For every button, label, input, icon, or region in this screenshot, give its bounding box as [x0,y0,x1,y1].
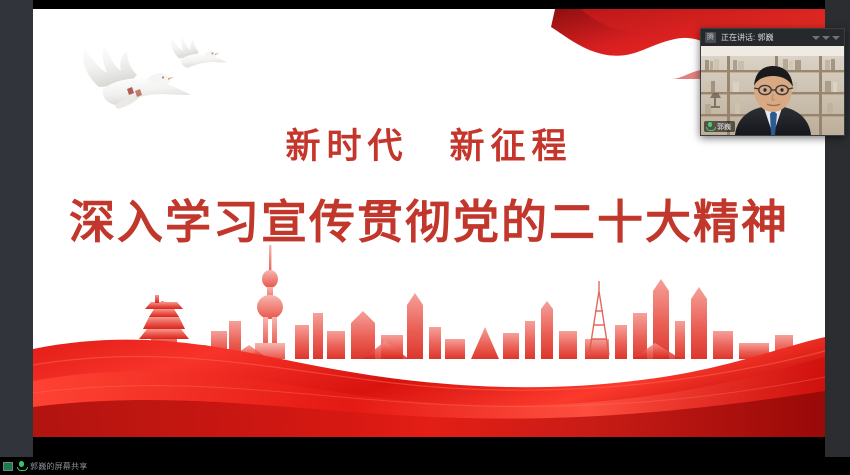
chevron-down-icon[interactable] [812,36,820,40]
speaker-video-panel[interactable]: 腾 正在讲话: 郭巍 [700,28,845,136]
doves-illustration [41,19,231,124]
participant-name: 郭巍 [717,122,731,132]
share-status-bar: 郭巍的屏幕共享 [0,457,850,475]
screen-share-viewer: 新时代 新征程 深入学习宣传贯彻党的二十大精神 [0,0,850,475]
chevron-down-icon[interactable] [822,36,830,40]
share-status-label: 郭巍的屏幕共享 [30,461,87,472]
microphone-icon [706,122,714,131]
video-panel-controls[interactable] [812,36,840,40]
left-rail [0,0,33,457]
speaking-status-label: 正在讲话: 郭巍 [721,32,807,43]
speaker-video-feed[interactable]: 郭巍 [701,46,844,135]
chevron-down-icon[interactable] [832,36,840,40]
monitor-icon [3,462,13,471]
bottom-letterbox [33,437,825,457]
slide-heading-block: 新时代 新征程 深入学习宣传贯彻党的二十大精神 [33,127,825,250]
red-wave-decoration [33,319,825,437]
microphone-icon [17,461,26,471]
participant-name-badge: 郭巍 [704,121,735,132]
app-badge-icon: 腾 [705,32,716,43]
video-panel-header[interactable]: 腾 正在讲话: 郭巍 [701,29,844,46]
top-letterbox [33,0,825,9]
